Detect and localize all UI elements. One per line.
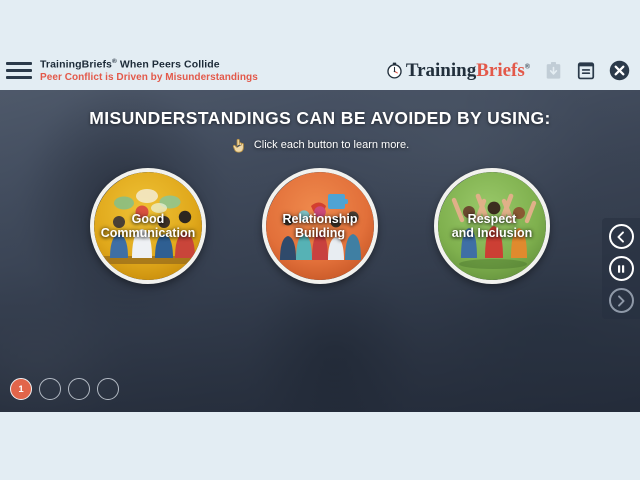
progress-dot-2[interactable]: 2 [39, 378, 61, 400]
brand-word-briefs: Briefs [476, 60, 525, 81]
topic-label-line2: Communication [101, 226, 195, 240]
topic-button-row: GoodCommunication [0, 168, 640, 284]
slide-instruction-text: Click each button to learn more. [254, 139, 409, 151]
brand-wordmark: TrainingBriefs® [406, 61, 530, 80]
pointing-hand-icon [231, 137, 246, 153]
playback-controls [602, 218, 640, 319]
brand-word-training: Training [406, 60, 476, 81]
course-subtitle: Peer Conflict is Driven by Misunderstand… [40, 72, 258, 83]
hamburger-bar [6, 62, 32, 65]
course-title-rest: When Peers Collide [117, 58, 220, 70]
hamburger-bar [6, 76, 32, 79]
next-icon[interactable] [609, 288, 634, 313]
topic-button-relationship-building[interactable]: RelationshipBuilding [262, 168, 378, 284]
trainingbriefs-logo: TrainingBriefs® [386, 61, 530, 80]
slide-stage: MISUNDERSTANDINGS CAN BE AVOIDED BY USIN… [0, 90, 640, 412]
slide-instruction-row: Click each button to learn more. [0, 137, 640, 153]
progress-dots: 1 2 3 4 [10, 378, 119, 400]
chevron-right-glyph [615, 295, 627, 307]
progress-dot-3[interactable]: 3 [68, 378, 90, 400]
topic-label-line2: Building [295, 226, 345, 240]
progress-dot-4[interactable]: 4 [97, 378, 119, 400]
hamburger-menu-icon[interactable] [6, 60, 32, 80]
topic-label-line1: Good [132, 212, 165, 226]
player-header: TrainingBriefs® When Peers Collide Peer … [0, 50, 640, 90]
slide-heading: MISUNDERSTANDINGS CAN BE AVOIDED BY USIN… [0, 108, 640, 129]
chevron-left-glyph [615, 231, 627, 243]
hamburger-bar [6, 69, 32, 72]
previous-icon[interactable] [609, 224, 634, 249]
download-glyph [545, 61, 562, 80]
pause-glyph [615, 263, 627, 275]
course-player: TrainingBriefs® When Peers Collide Peer … [0, 0, 640, 480]
stopwatch-icon [386, 62, 403, 79]
topic-button-respect-and-inclusion[interactable]: Respectand Inclusion [434, 168, 550, 284]
course-title: TrainingBriefs® When Peers Collide [40, 58, 258, 71]
brand-registered-mark: ® [525, 62, 530, 70]
course-title-block: TrainingBriefs® When Peers Collide Peer … [40, 57, 258, 83]
topic-label-respect-and-inclusion: Respectand Inclusion [448, 212, 537, 240]
topic-label-relationship-building: RelationshipBuilding [278, 212, 361, 240]
page-footer-area [0, 412, 640, 480]
topic-label-line2: and Inclusion [452, 226, 533, 240]
close-icon[interactable] [608, 59, 630, 81]
course-title-brand: TrainingBriefs [40, 58, 112, 70]
topic-button-good-communication[interactable]: GoodCommunication [90, 168, 206, 284]
topic-label-good-communication: GoodCommunication [97, 212, 199, 240]
topic-label-line1: Respect [468, 212, 517, 226]
pause-icon[interactable] [609, 256, 634, 281]
close-glyph [609, 60, 630, 81]
progress-dot-1[interactable]: 1 [10, 378, 32, 400]
download-resources-icon[interactable] [542, 59, 564, 81]
header-icon-group [542, 59, 630, 81]
notes-transcript-icon[interactable] [575, 59, 597, 81]
topic-label-line1: Relationship [282, 212, 357, 226]
notes-glyph [577, 61, 595, 80]
